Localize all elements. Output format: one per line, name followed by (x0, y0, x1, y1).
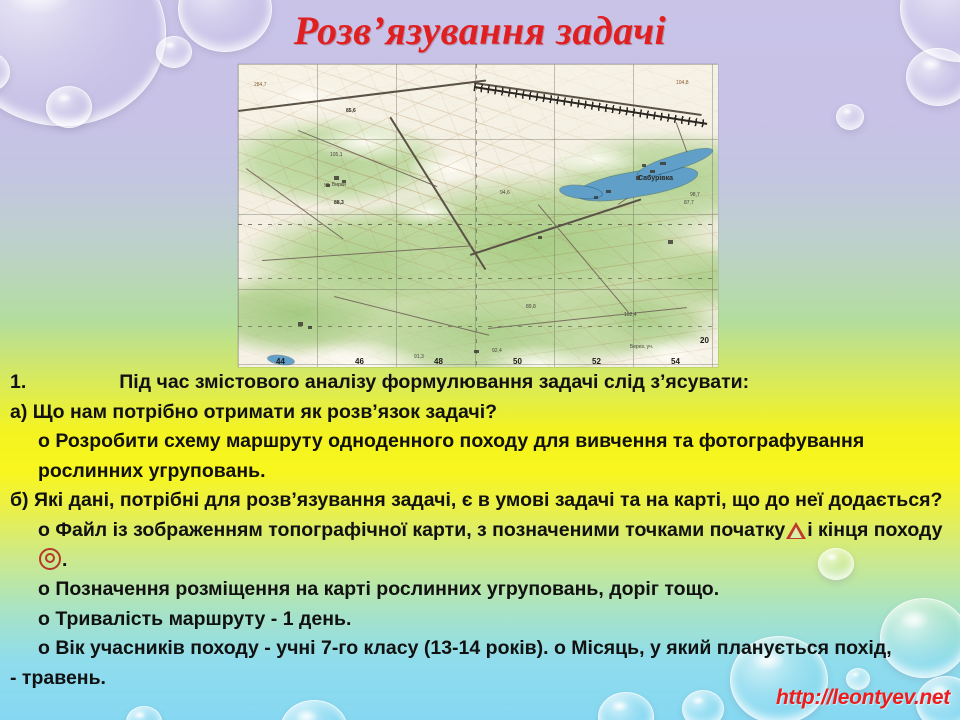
map-label: 91,3 (414, 354, 424, 360)
map-label: 284,7 (254, 82, 267, 88)
map-label: 88,3 (334, 200, 344, 206)
bullet-b1: о Файл із зображенням топографічної карт… (0, 516, 960, 575)
map-label: 94,6 (500, 190, 510, 196)
map-settlement (308, 326, 312, 329)
map-grid-label: 54 (671, 357, 680, 366)
map-label: 98,7 (690, 192, 700, 198)
water-droplet-icon (280, 700, 348, 720)
map-settlement (668, 240, 673, 244)
text-line-1: 1.Під час змістового аналізу формулюванн… (0, 368, 960, 398)
map-settlement (594, 196, 598, 199)
map-settlement (334, 176, 339, 180)
bullet-b4: о Вік учасників походу - учні 7-го класу… (0, 634, 960, 664)
map-settlement (474, 350, 479, 353)
map-grid-label: 48 (434, 357, 443, 366)
map-label: Сабурівка (638, 176, 673, 182)
text-line-a: а) Що нам потрібно отримати як розв’язок… (0, 398, 960, 428)
map-grid-label: 52 (592, 357, 601, 366)
map-label: ур. Бирки (324, 182, 346, 188)
bullet-b3: о Тривалість маршруту - 1 день. (0, 605, 960, 635)
map-settlement (538, 236, 542, 239)
map-grid-label: 50 (513, 357, 522, 366)
map-grid-label: 20 (700, 336, 709, 345)
bullet-a1: о Розробити схему маршруту одноденного п… (0, 427, 960, 486)
map-settlement (642, 164, 646, 167)
water-droplet-icon (836, 104, 864, 130)
start-triangle-marker-icon (786, 522, 806, 539)
water-droplet-icon (906, 48, 960, 106)
bullet-b1-text-end: . (62, 549, 67, 571)
map-label: 104,8 (676, 80, 689, 86)
map-label: 92,4 (492, 348, 502, 354)
slide-body-text: 1.Під час змістового аналізу формулюванн… (0, 368, 960, 694)
map-grid-label: 44 (276, 357, 285, 366)
bullet-b1-text-mid: і кінця походу (807, 519, 942, 541)
topographic-map-image: 284,7 85,6 ур. Бирки 88,3 105,1 94,6 Саб… (238, 64, 718, 367)
map-label: Берез. уч. (630, 344, 653, 350)
map-settlement (298, 322, 303, 326)
list-number: 1. (10, 371, 26, 393)
end-circle-marker-icon (39, 548, 61, 570)
bullet-b2: о Позначення розміщення на карті рослинн… (0, 575, 960, 605)
map-label: 105,1 (330, 152, 343, 158)
map-label: 85,6 (346, 108, 356, 114)
map-label: 89,8 (526, 304, 536, 310)
map-label: 87,7 (684, 200, 694, 206)
map-label: 102,4 (624, 312, 637, 318)
line-1-body: Під час змістового аналізу формулювання … (119, 371, 749, 393)
map-settlement (606, 190, 611, 193)
water-droplet-icon (46, 86, 92, 128)
water-droplet-icon (0, 52, 10, 92)
site-watermark: http://leontyev.net (776, 686, 950, 710)
slide-title: Розв’язування задачі (0, 8, 960, 54)
map-settlement (660, 162, 666, 165)
water-droplet-icon (682, 690, 724, 720)
map-settlement (650, 170, 655, 173)
text-line-b: б) Які дані, потрібні для розв’язування … (0, 486, 960, 516)
bullet-b1-text-start: о Файл із зображенням топографічної карт… (38, 519, 785, 541)
water-droplet-icon (598, 692, 654, 720)
slide-canvas: Розв’язування задачі (0, 0, 960, 720)
water-droplet-icon (126, 706, 162, 720)
map-grid-label: 46 (355, 357, 364, 366)
